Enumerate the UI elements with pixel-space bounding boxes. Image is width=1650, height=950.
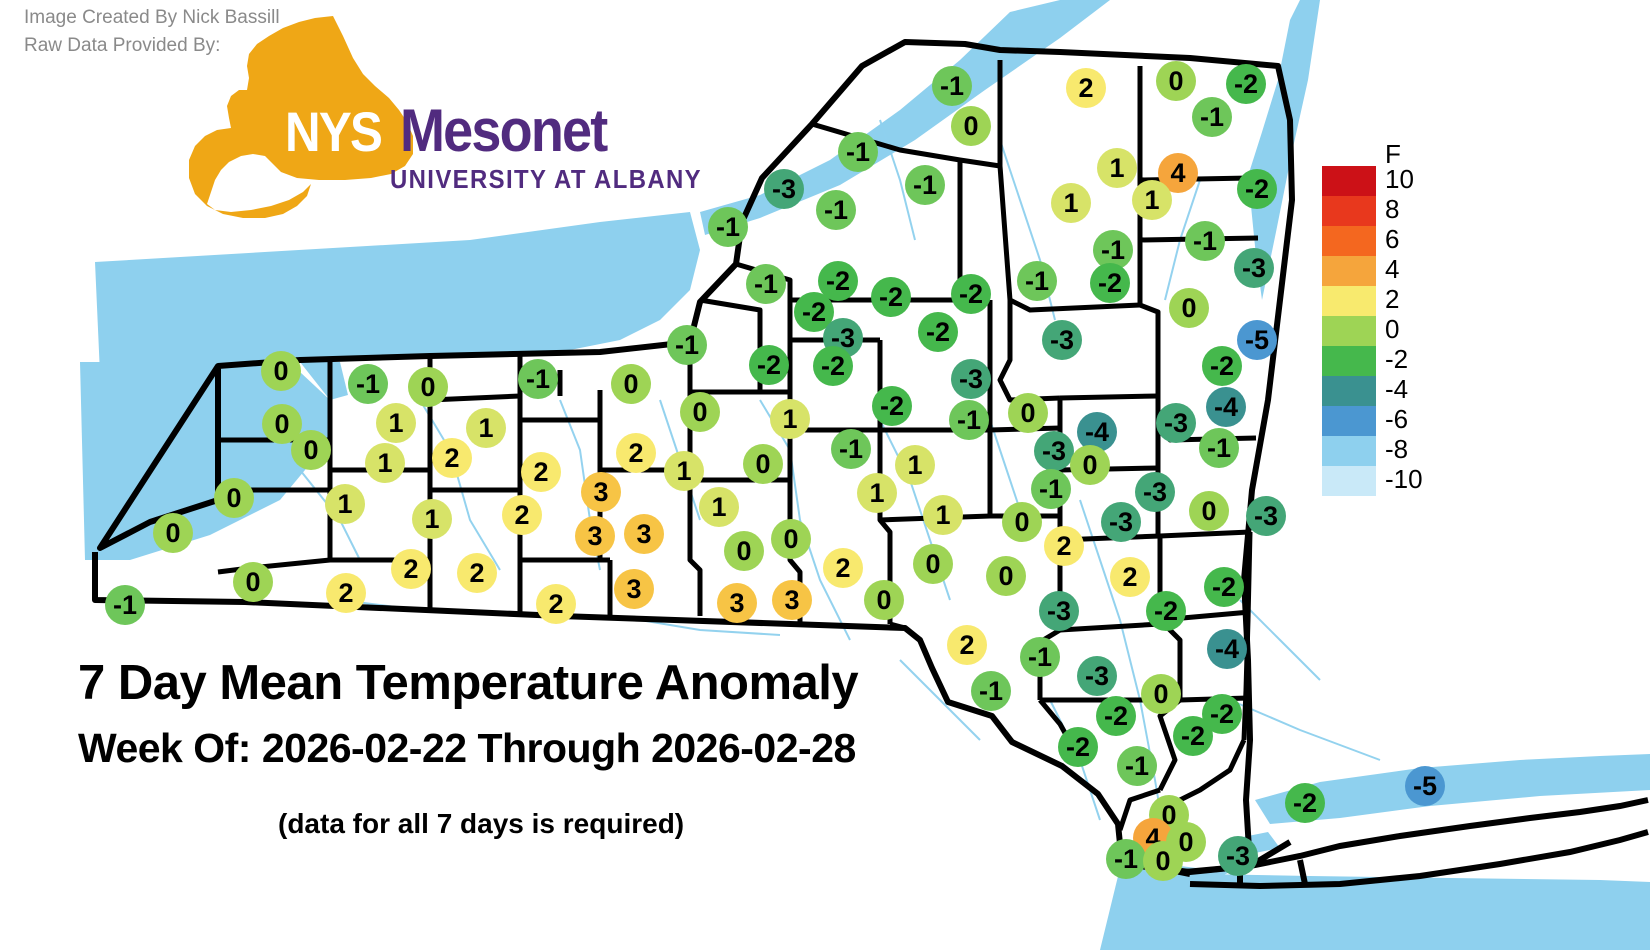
station-marker: 1: [699, 487, 739, 527]
colorbar-segment: [1322, 316, 1376, 346]
station-marker: -2: [1173, 716, 1213, 756]
station-marker: -1: [518, 359, 558, 399]
station-marker: 0: [1156, 61, 1196, 101]
data-requirement-note: (data for all 7 days is required): [278, 808, 684, 840]
station-marker: 0: [1008, 393, 1048, 433]
station-marker: -1: [105, 585, 145, 625]
station-marker: 0: [153, 513, 193, 553]
station-marker: 1: [376, 403, 416, 443]
colorbar-segment: [1322, 226, 1376, 256]
colorbar-tick-label: -10: [1385, 464, 1423, 495]
station-marker: 0: [408, 367, 448, 407]
station-marker: -1: [1199, 428, 1239, 468]
colorbar-tick-label: -6: [1385, 404, 1408, 435]
station-marker: -1: [746, 264, 786, 304]
colorbar-tick-label: 6: [1385, 224, 1399, 255]
station-marker: -1: [1017, 261, 1057, 301]
station-marker: 0: [1141, 674, 1181, 714]
station-marker: 2: [1044, 526, 1084, 566]
logo-subtitle: UNIVERSITY AT ALBANY: [390, 164, 702, 195]
colorbar-segment: [1322, 196, 1376, 226]
colorbar-segment: [1322, 466, 1376, 496]
station-marker: -3: [1077, 656, 1117, 696]
station-marker: -2: [1202, 346, 1242, 386]
station-marker: -2: [1058, 727, 1098, 767]
station-marker: 2: [616, 433, 656, 473]
station-marker: -3: [1101, 502, 1141, 542]
station-marker: 1: [857, 473, 897, 513]
station-marker: 1: [1132, 180, 1172, 220]
station-marker: 2: [432, 438, 472, 478]
nys-mesonet-logo: NYS Mesonet UNIVERSITY AT ALBANY: [185, 14, 655, 219]
station-marker: -1: [667, 325, 707, 365]
station-marker: -3: [951, 359, 991, 399]
logo-nys-text: NYS: [285, 99, 381, 164]
station-marker: -1: [708, 207, 748, 247]
station-marker: 3: [575, 516, 615, 556]
station-marker: 2: [502, 495, 542, 535]
station-marker: -4: [1207, 629, 1247, 669]
logo-mesonet-text: Mesonet: [400, 96, 606, 165]
station-marker: -3: [1246, 496, 1286, 536]
station-marker: 3: [614, 569, 654, 609]
station-marker: 0: [951, 106, 991, 146]
station-marker: -1: [1185, 221, 1225, 261]
station-marker: 0: [1002, 502, 1042, 542]
station-marker: -2: [951, 274, 991, 314]
station-marker: 2: [1110, 557, 1150, 597]
station-marker: 0: [291, 430, 331, 470]
station-marker: 2: [457, 553, 497, 593]
date-range-subtitle: Week Of: 2026-02-22 Through 2026-02-28: [78, 725, 856, 772]
station-marker: 0: [261, 351, 301, 391]
station-marker: 3: [717, 583, 757, 623]
colorbar-segment: [1322, 346, 1376, 376]
station-marker: 2: [521, 452, 561, 492]
station-marker: 1: [325, 484, 365, 524]
station-marker: -1: [348, 364, 388, 404]
station-marker: 0: [743, 444, 783, 484]
colorbar-tick-label: -8: [1385, 434, 1408, 465]
station-marker: 2: [947, 625, 987, 665]
station-marker: -1: [1117, 746, 1157, 786]
station-marker: 0: [611, 364, 651, 404]
station-marker: -3: [1135, 472, 1175, 512]
station-marker: -1: [838, 132, 878, 172]
station-marker: -2: [1204, 567, 1244, 607]
station-marker: 0: [913, 544, 953, 584]
colorbar-tick-label: 0: [1385, 314, 1399, 345]
station-marker: -2: [1226, 64, 1266, 104]
colorbar-tick-label: -4: [1385, 374, 1408, 405]
station-marker: -1: [1020, 637, 1060, 677]
station-marker: 0: [1189, 491, 1229, 531]
colorbar-segment: [1322, 166, 1376, 196]
colorbar-segment: [1322, 406, 1376, 436]
station-marker: -5: [1405, 766, 1445, 806]
station-marker: 1: [895, 445, 935, 485]
station-marker: -3: [1234, 248, 1274, 288]
station-marker: -2: [813, 346, 853, 386]
station-marker: -2: [1146, 591, 1186, 631]
station-marker: -2: [749, 345, 789, 385]
station-marker: 1: [412, 499, 452, 539]
station-marker: 3: [772, 580, 812, 620]
station-marker: -2: [1090, 263, 1130, 303]
colorbar-segment: [1322, 286, 1376, 316]
station-marker: 1: [1051, 183, 1091, 223]
station-marker: 0: [986, 556, 1026, 596]
station-marker: 0: [1070, 445, 1110, 485]
station-marker: 1: [1097, 148, 1137, 188]
station-marker: -3: [764, 169, 804, 209]
station-marker: 2: [536, 584, 576, 624]
station-marker: -1: [1106, 839, 1146, 879]
station-marker: -2: [872, 386, 912, 426]
station-marker: 2: [391, 549, 431, 589]
station-marker: -3: [1042, 320, 1082, 360]
colorbar-segment: [1322, 376, 1376, 406]
station-marker: 2: [823, 548, 863, 588]
station-marker: 3: [581, 472, 621, 512]
colorbar-tick-label: 2: [1385, 284, 1399, 315]
station-marker: 1: [365, 443, 405, 483]
station-marker: 1: [466, 408, 506, 448]
station-marker: -1: [949, 400, 989, 440]
page-title: 7 Day Mean Temperature Anomaly: [78, 655, 858, 711]
station-marker: -1: [932, 66, 972, 106]
station-marker: -5: [1237, 320, 1277, 360]
station-marker: 0: [680, 392, 720, 432]
station-marker: -3: [1218, 836, 1258, 876]
colorbar-tick-label: -2: [1385, 344, 1408, 375]
station-marker: 3: [624, 514, 664, 554]
station-marker: 0: [1169, 288, 1209, 328]
station-marker: 2: [326, 573, 366, 613]
station-marker: 1: [770, 399, 810, 439]
station-marker: -1: [1192, 97, 1232, 137]
colorbar-tick-label: 4: [1385, 254, 1399, 285]
station-marker: 0: [233, 562, 273, 602]
station-marker: 0: [724, 531, 764, 571]
station-marker: 0: [214, 478, 254, 518]
station-marker: 0: [864, 580, 904, 620]
colorbar-tick-label: 8: [1385, 194, 1399, 225]
station-marker: -3: [1156, 403, 1196, 443]
colorbar-segment: [1322, 256, 1376, 286]
station-marker: -4: [1206, 387, 1246, 427]
station-marker: -2: [1096, 696, 1136, 736]
station-marker: 1: [664, 451, 704, 491]
station-marker: -3: [1034, 431, 1074, 471]
station-marker: 1: [923, 495, 963, 535]
station-marker: -3: [1039, 591, 1079, 631]
station-marker: -2: [1237, 169, 1277, 209]
colorbar: [1322, 166, 1376, 496]
station-marker: 0: [771, 519, 811, 559]
colorbar-segment: [1322, 436, 1376, 466]
station-marker: 2: [1066, 68, 1106, 108]
station-marker: -1: [971, 671, 1011, 711]
station-marker: -2: [1285, 783, 1325, 823]
station-marker: -1: [905, 165, 945, 205]
station-marker: 0: [1143, 841, 1183, 881]
station-marker: -1: [1031, 469, 1071, 509]
station-marker: -2: [871, 277, 911, 317]
station-marker: -1: [831, 429, 871, 469]
station-marker: -1: [816, 190, 856, 230]
station-marker: -2: [918, 312, 958, 352]
colorbar-tick-label: 10: [1385, 164, 1414, 195]
